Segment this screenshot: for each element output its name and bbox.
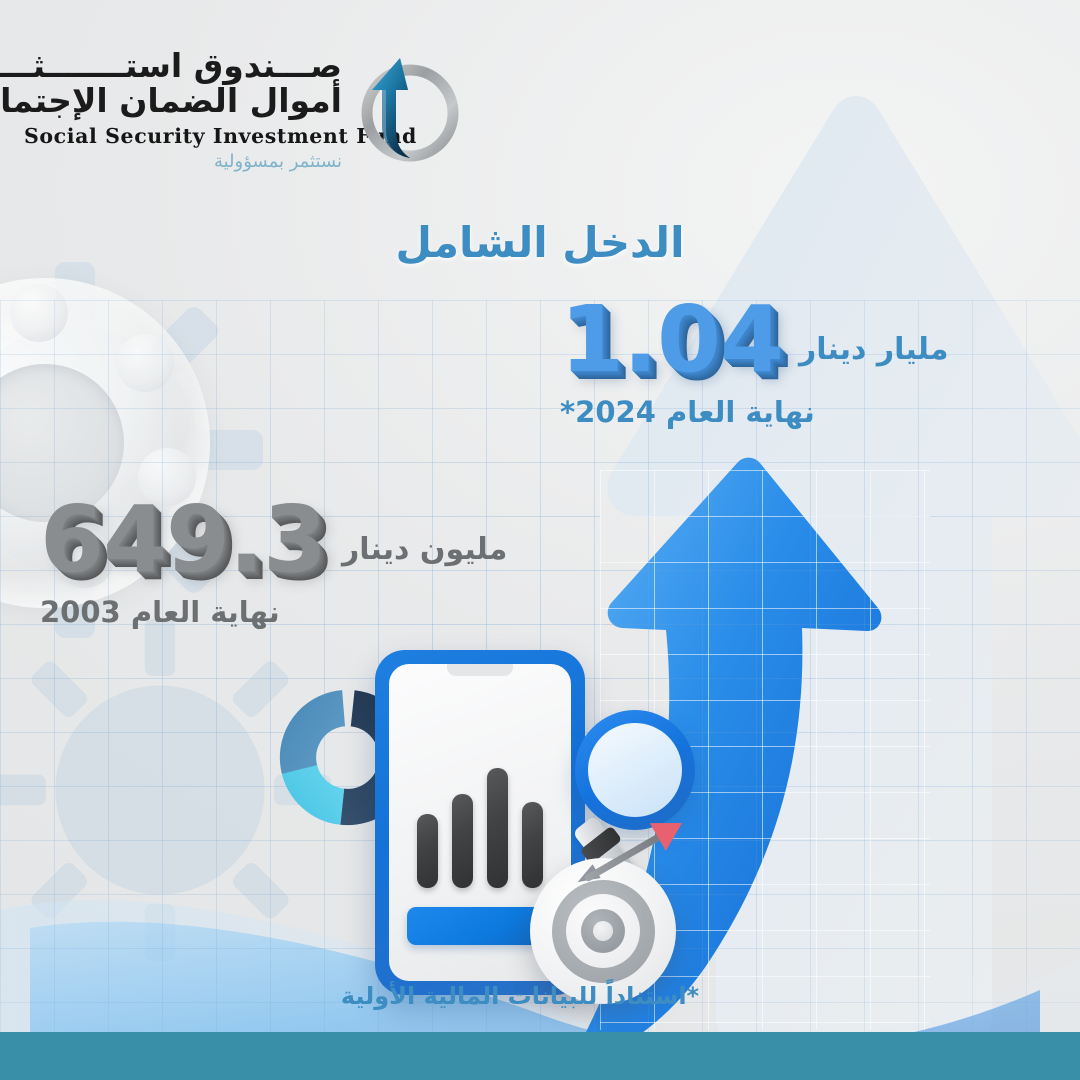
circular-arrow-emblem-icon	[348, 46, 466, 171]
phone-action-bar	[407, 907, 545, 945]
logo-english-name: Social Security Investment Fund	[24, 124, 342, 148]
stat-2003-number: 649.3	[40, 500, 326, 581]
phone-bar-chart-icon	[405, 768, 555, 888]
target-ring-3	[566, 894, 640, 968]
stat-2024-period: نهاية العام 2024*	[560, 395, 980, 429]
logo-arabic-line-2: أموال الضمان الإجتماعي	[24, 83, 342, 120]
logo-arabic-line-1: صـــندوق استـــــــثـــــمــار	[24, 48, 342, 85]
stat-block-2024: مليار دينار 1.04 نهاية العام 2024*	[560, 300, 980, 429]
stat-2003-value-row: مليون دينار 649.3	[40, 500, 510, 581]
stat-2024-value-row: مليار دينار 1.04	[560, 300, 980, 381]
logo-text-block: صـــندوق استـــــــثـــــمــار أموال الض…	[24, 42, 342, 172]
stat-block-2003: مليون دينار 649.3 نهاية العام 2003	[40, 500, 510, 629]
target-ring-4	[581, 909, 625, 953]
stat-2003-period: نهاية العام 2003	[40, 595, 510, 629]
page-title: الدخل الشامل	[0, 218, 1080, 267]
stat-2003-unit: مليون دينار	[342, 532, 507, 581]
finance-illustration	[255, 640, 725, 1030]
stat-2024-unit: مليار دينار	[799, 332, 949, 381]
infographic-canvas: صـــندوق استـــــــثـــــمــار أموال الض…	[0, 0, 1080, 1080]
logo-tagline: نستثمر بمسؤولية	[24, 151, 342, 172]
target-ring-2	[552, 880, 655, 983]
magnifier-icon	[575, 710, 695, 830]
footnote-text: *استناداً للبيانات المالية الأولية	[0, 982, 1080, 1010]
brand-logo[interactable]: صـــندوق استـــــــثـــــمــار أموال الض…	[24, 42, 474, 192]
phone-notch	[447, 664, 513, 676]
target-bullseye	[593, 921, 613, 941]
bottom-bar	[0, 1032, 1080, 1080]
stat-2024-number: 1.04	[560, 300, 783, 381]
